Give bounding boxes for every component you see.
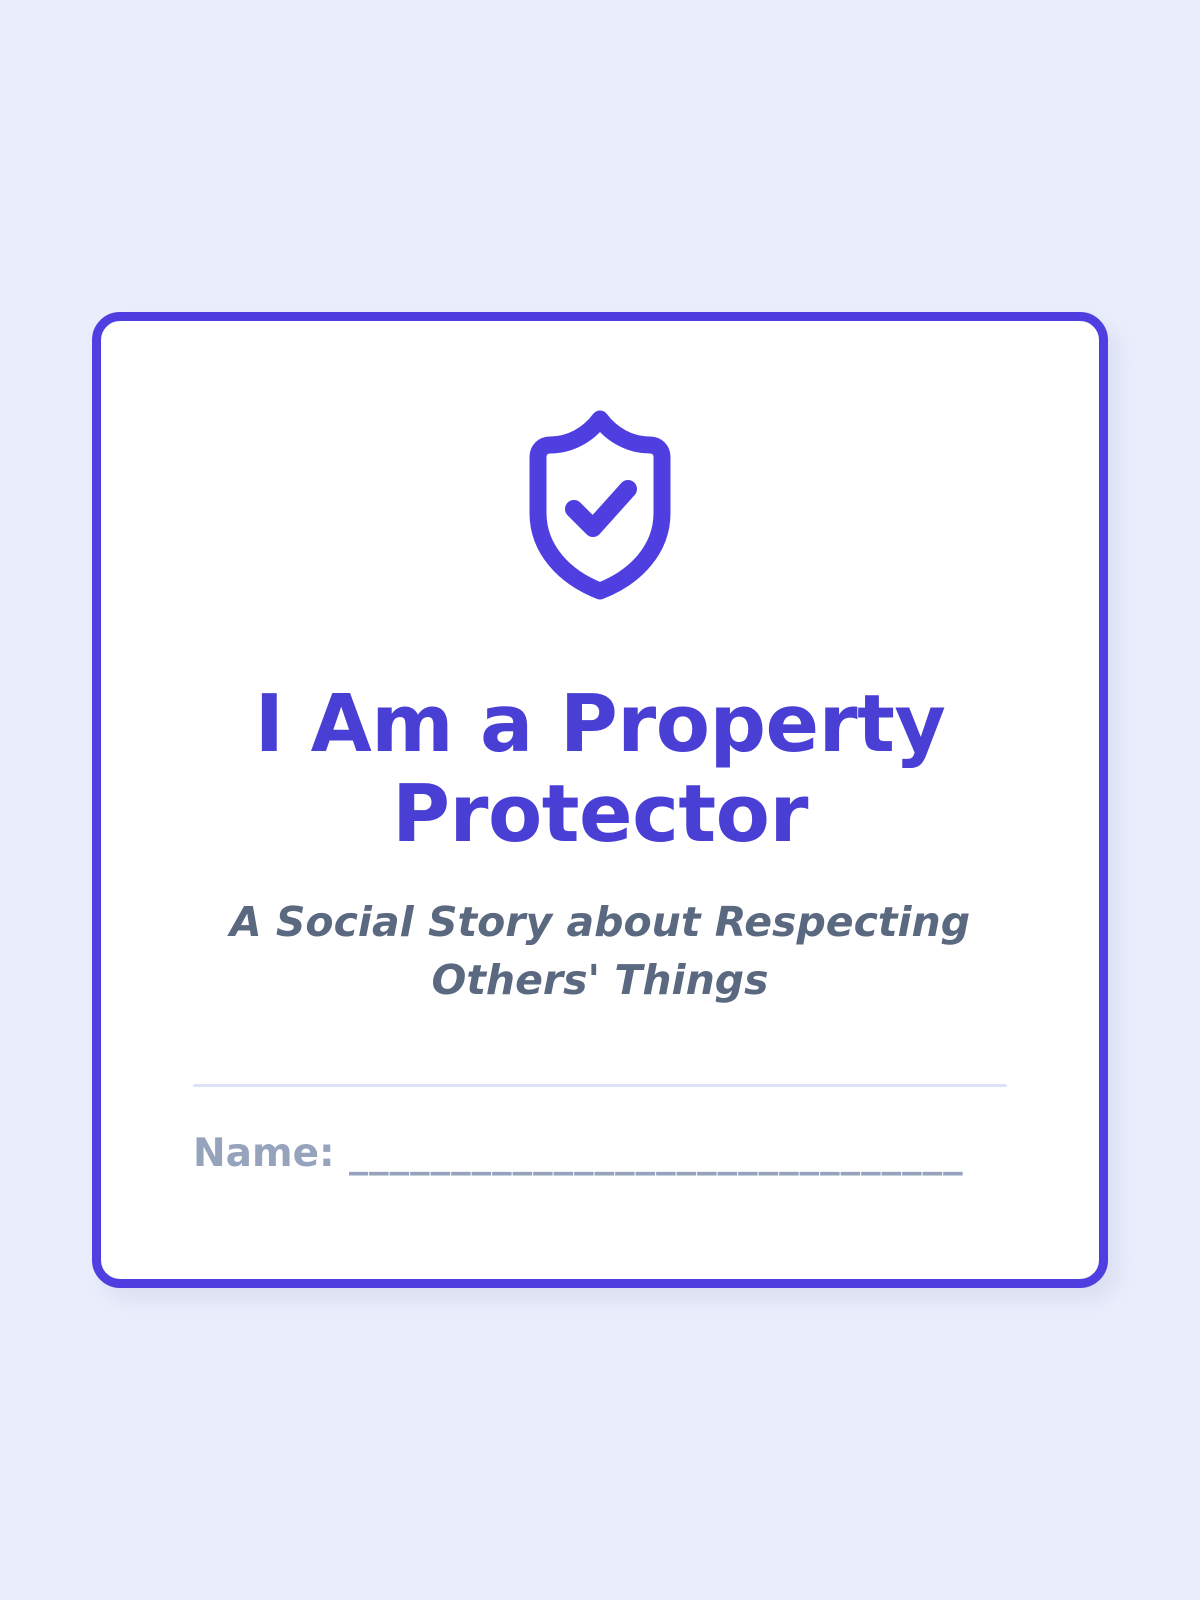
cover-page: I Am a Property Protector A Social Story… xyxy=(0,0,1200,1600)
cover-card: I Am a Property Protector A Social Story… xyxy=(92,312,1108,1288)
page-subtitle: A Social Story about Respecting Others' … xyxy=(205,893,995,1009)
page-title: I Am a Property Protector xyxy=(193,679,1007,859)
shield-check-icon xyxy=(516,409,684,601)
name-input-blank[interactable]: ______________________________ xyxy=(349,1131,964,1176)
divider xyxy=(193,1084,1007,1087)
name-field-row: Name: ______________________________ xyxy=(193,1131,1007,1176)
name-label: Name: xyxy=(193,1131,335,1176)
